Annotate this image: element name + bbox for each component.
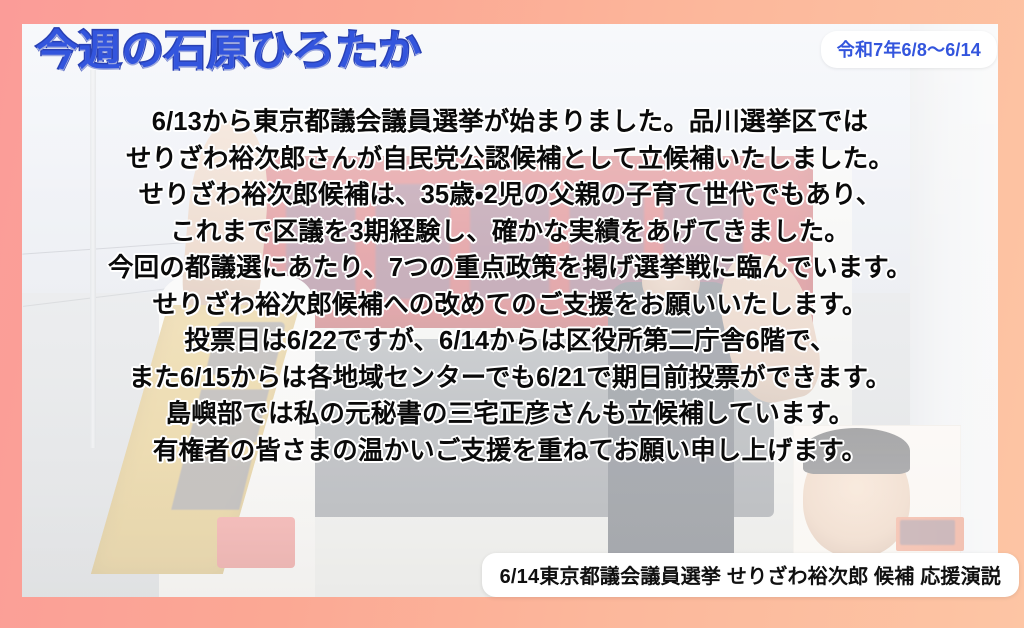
body-line: 投票日は6/22ですが、6/14からは区役所第二庁舎6階で、	[22, 323, 998, 360]
body-line: せりざわ裕次郎候補への改めてのご支援をお願いいたします。	[22, 287, 998, 324]
body-line: せりざわ裕次郎さんが自民党公認候補として立候補いたしました。	[22, 141, 998, 178]
poster-canvas: 今週の石原ひろたか 令和7年6/8〜6/14 6/13から東京都議会議員選挙が始…	[0, 0, 1024, 628]
body-line: 有権者の皆さまの温かいご支援を重ねてお願い申し上げます。	[22, 433, 998, 470]
body-line: せりざわ裕次郎候補は、35歳・2児の父親の子育て世代でもあり、	[22, 177, 998, 214]
date-range-badge: 令和7年6/8〜6/14	[821, 31, 997, 68]
photo-poster-caption	[900, 520, 955, 545]
body-line: また6/15からは各地域センターでも6/21で期日前投票ができます。	[22, 360, 998, 397]
body-line: 島嶼部では私の元秘書の三宅正彦さんも立候補しています。	[22, 396, 998, 433]
photo-red-bag	[217, 517, 295, 569]
body-line: 6/13から東京都議会議員選挙が始まりました。品川選挙区では	[22, 104, 998, 141]
body-line: 今回の都議選にあたり、7つの重点政策を掲げ選挙戦に臨んでいます。	[22, 250, 998, 287]
photo-caption: 6/14東京都議会議員選挙 せりざわ裕次郎 候補 応援演説	[482, 553, 1019, 597]
page-title: 今週の石原ひろたか	[36, 30, 422, 72]
body-copy: 6/13から東京都議会議員選挙が始まりました。品川選挙区ではせりざわ裕次郎さんが…	[22, 104, 998, 469]
photo-poster-strip	[896, 517, 964, 551]
body-line: これまで区議を3期経験し、確かな実績をあげてきました。	[22, 214, 998, 251]
